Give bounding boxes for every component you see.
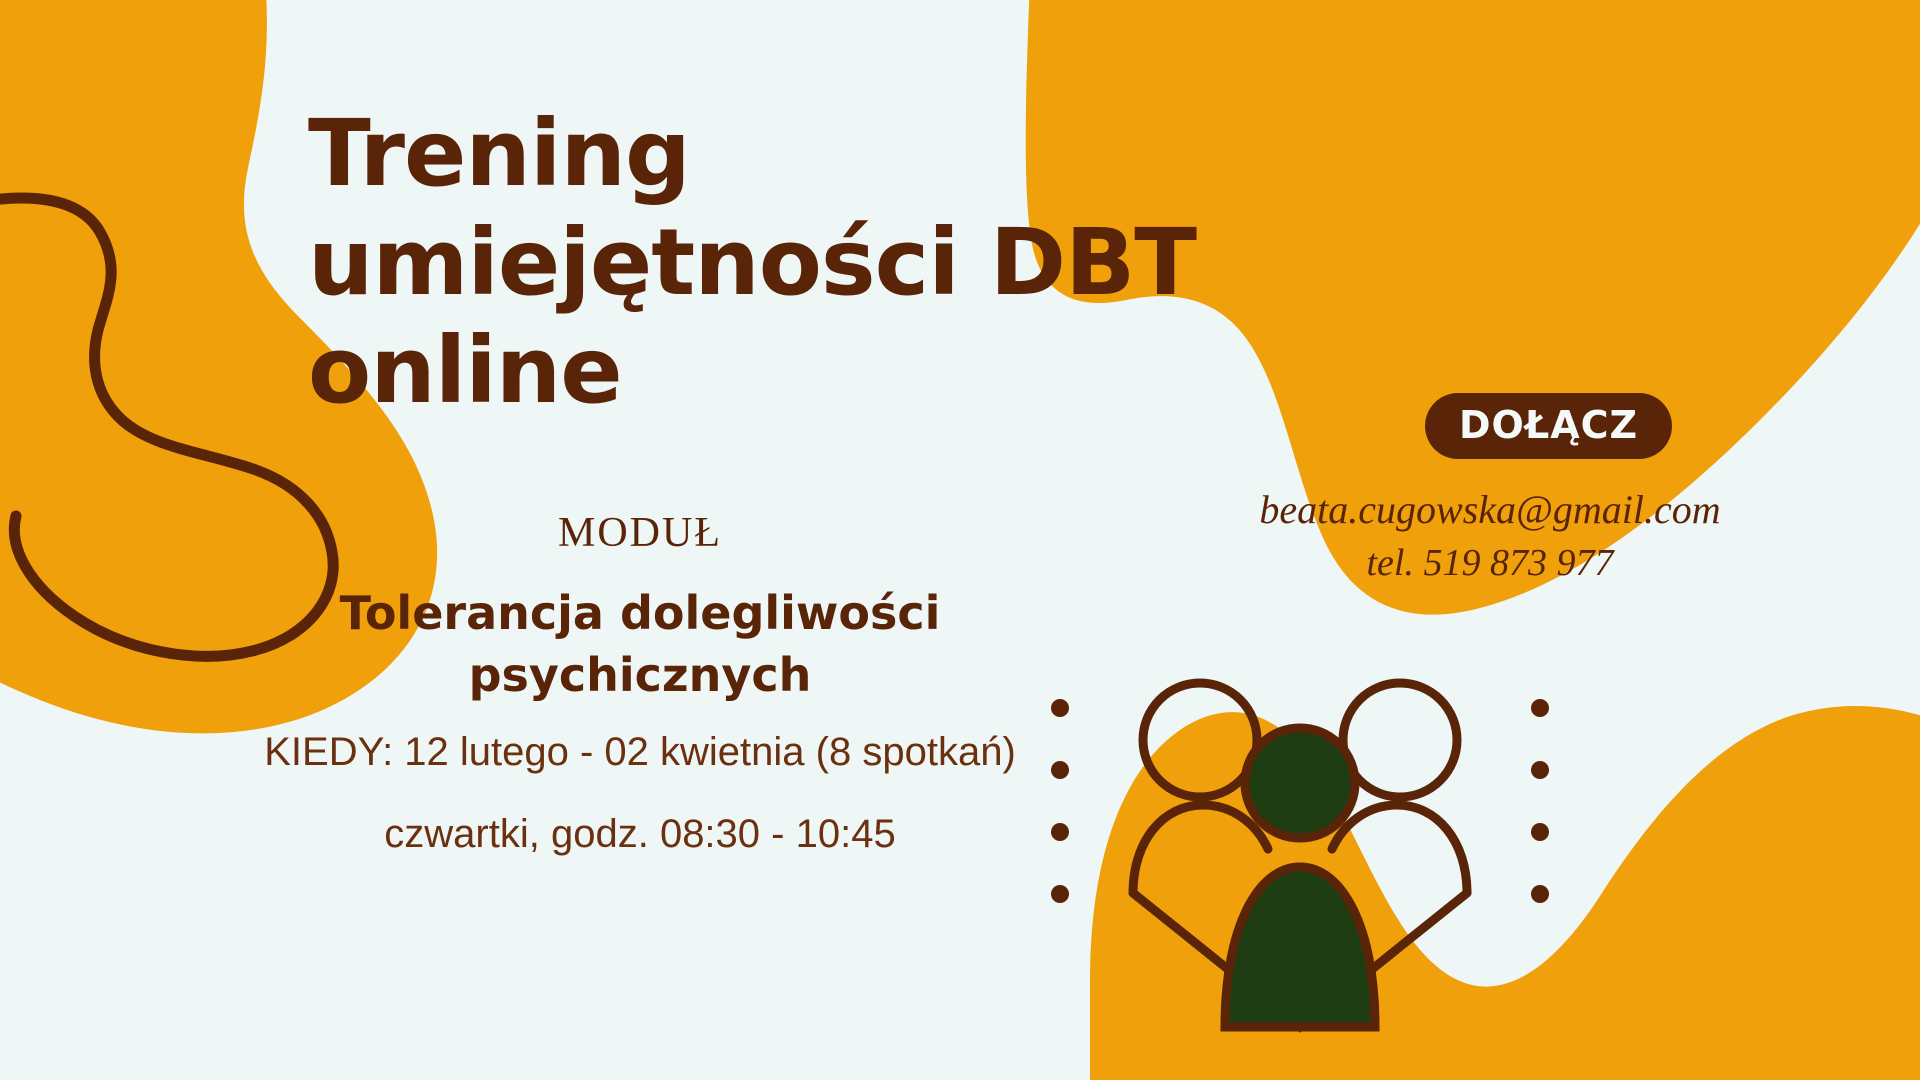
title-line-2: umiejętności DBT	[308, 209, 1208, 318]
vertical-dot-column-right	[1531, 699, 1549, 903]
person-right-head	[1343, 683, 1457, 797]
flyer-canvas: Trening umiejętności DBT online MODUŁ To…	[0, 0, 1920, 1080]
person-center-head	[1245, 728, 1355, 838]
contact-email[interactable]: beata.cugowska@gmail.com	[1180, 485, 1800, 535]
person-left-head	[1143, 683, 1257, 797]
dot	[1531, 823, 1549, 841]
dot	[1531, 699, 1549, 717]
dot	[1051, 761, 1069, 779]
group-of-people-icon	[1040, 655, 1560, 1075]
module-info: MODUŁ Tolerancja dolegliwości psychiczny…	[140, 510, 1140, 858]
module-label: MODUŁ	[140, 510, 1140, 556]
dot	[1051, 699, 1069, 717]
dot	[1051, 823, 1069, 841]
module-name: Tolerancja dolegliwości psychicznych	[140, 582, 1140, 706]
vertical-dot-column-left	[1051, 699, 1069, 903]
join-button[interactable]: DOŁĄCZ	[1425, 393, 1672, 459]
person-center-body	[1225, 867, 1375, 1027]
module-name-line-1: Tolerancja dolegliwości	[140, 582, 1140, 644]
contact-phone[interactable]: tel. 519 873 977	[1180, 539, 1800, 588]
schedule-time: czwartki, godz. 08:30 - 10:45	[140, 810, 1140, 858]
contact-info: beata.cugowska@gmail.com tel. 519 873 97…	[1180, 485, 1800, 588]
page-title: Trening umiejętności DBT online	[308, 100, 1208, 426]
dot	[1531, 761, 1549, 779]
module-name-line-2: psychicznych	[140, 644, 1140, 706]
title-line-1: Trening	[308, 100, 1208, 209]
schedule-dates: KIEDY: 12 lutego - 02 kwietnia (8 spotka…	[140, 728, 1140, 776]
dot	[1051, 885, 1069, 903]
title-line-3: online	[308, 317, 1208, 426]
person-right-body	[1332, 805, 1467, 893]
dot	[1531, 885, 1549, 903]
person-left-body	[1133, 805, 1268, 893]
